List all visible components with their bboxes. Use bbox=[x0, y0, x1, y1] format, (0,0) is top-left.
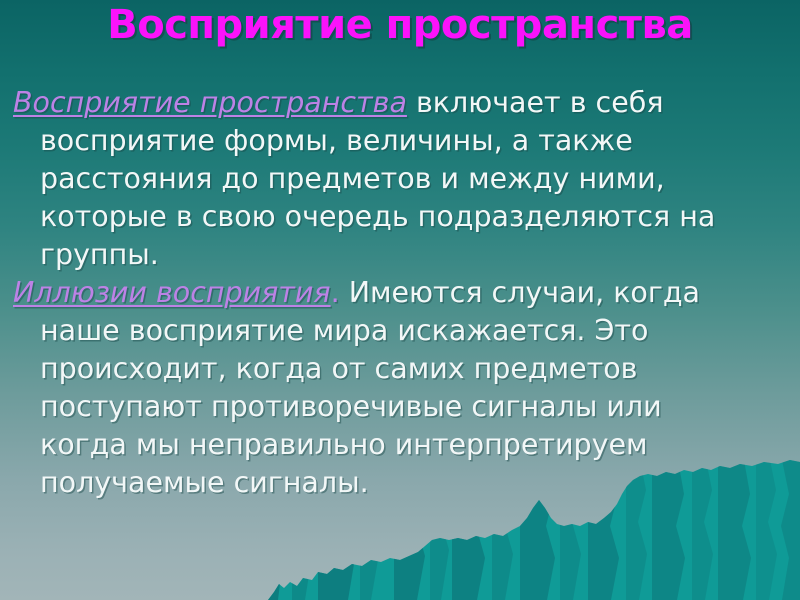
lead-term: Восприятие пространства bbox=[13, 86, 407, 119]
slide-body: Восприятие пространства включает в себя … bbox=[13, 84, 757, 502]
paragraph-text: Имеются случаи, когда наше восприятие ми… bbox=[40, 276, 700, 499]
body-paragraph: Иллюзии восприятия. Имеются случаи, когд… bbox=[13, 274, 757, 502]
body-paragraph: Восприятие пространства включает в себя … bbox=[13, 84, 757, 274]
lead-term: Иллюзии восприятия bbox=[13, 276, 331, 309]
slide-title: Восприятие пространства bbox=[0, 2, 800, 48]
presentation-slide: Восприятие пространства Восприятие прост… bbox=[0, 0, 800, 600]
lead-term-punctuation: . bbox=[331, 276, 340, 309]
